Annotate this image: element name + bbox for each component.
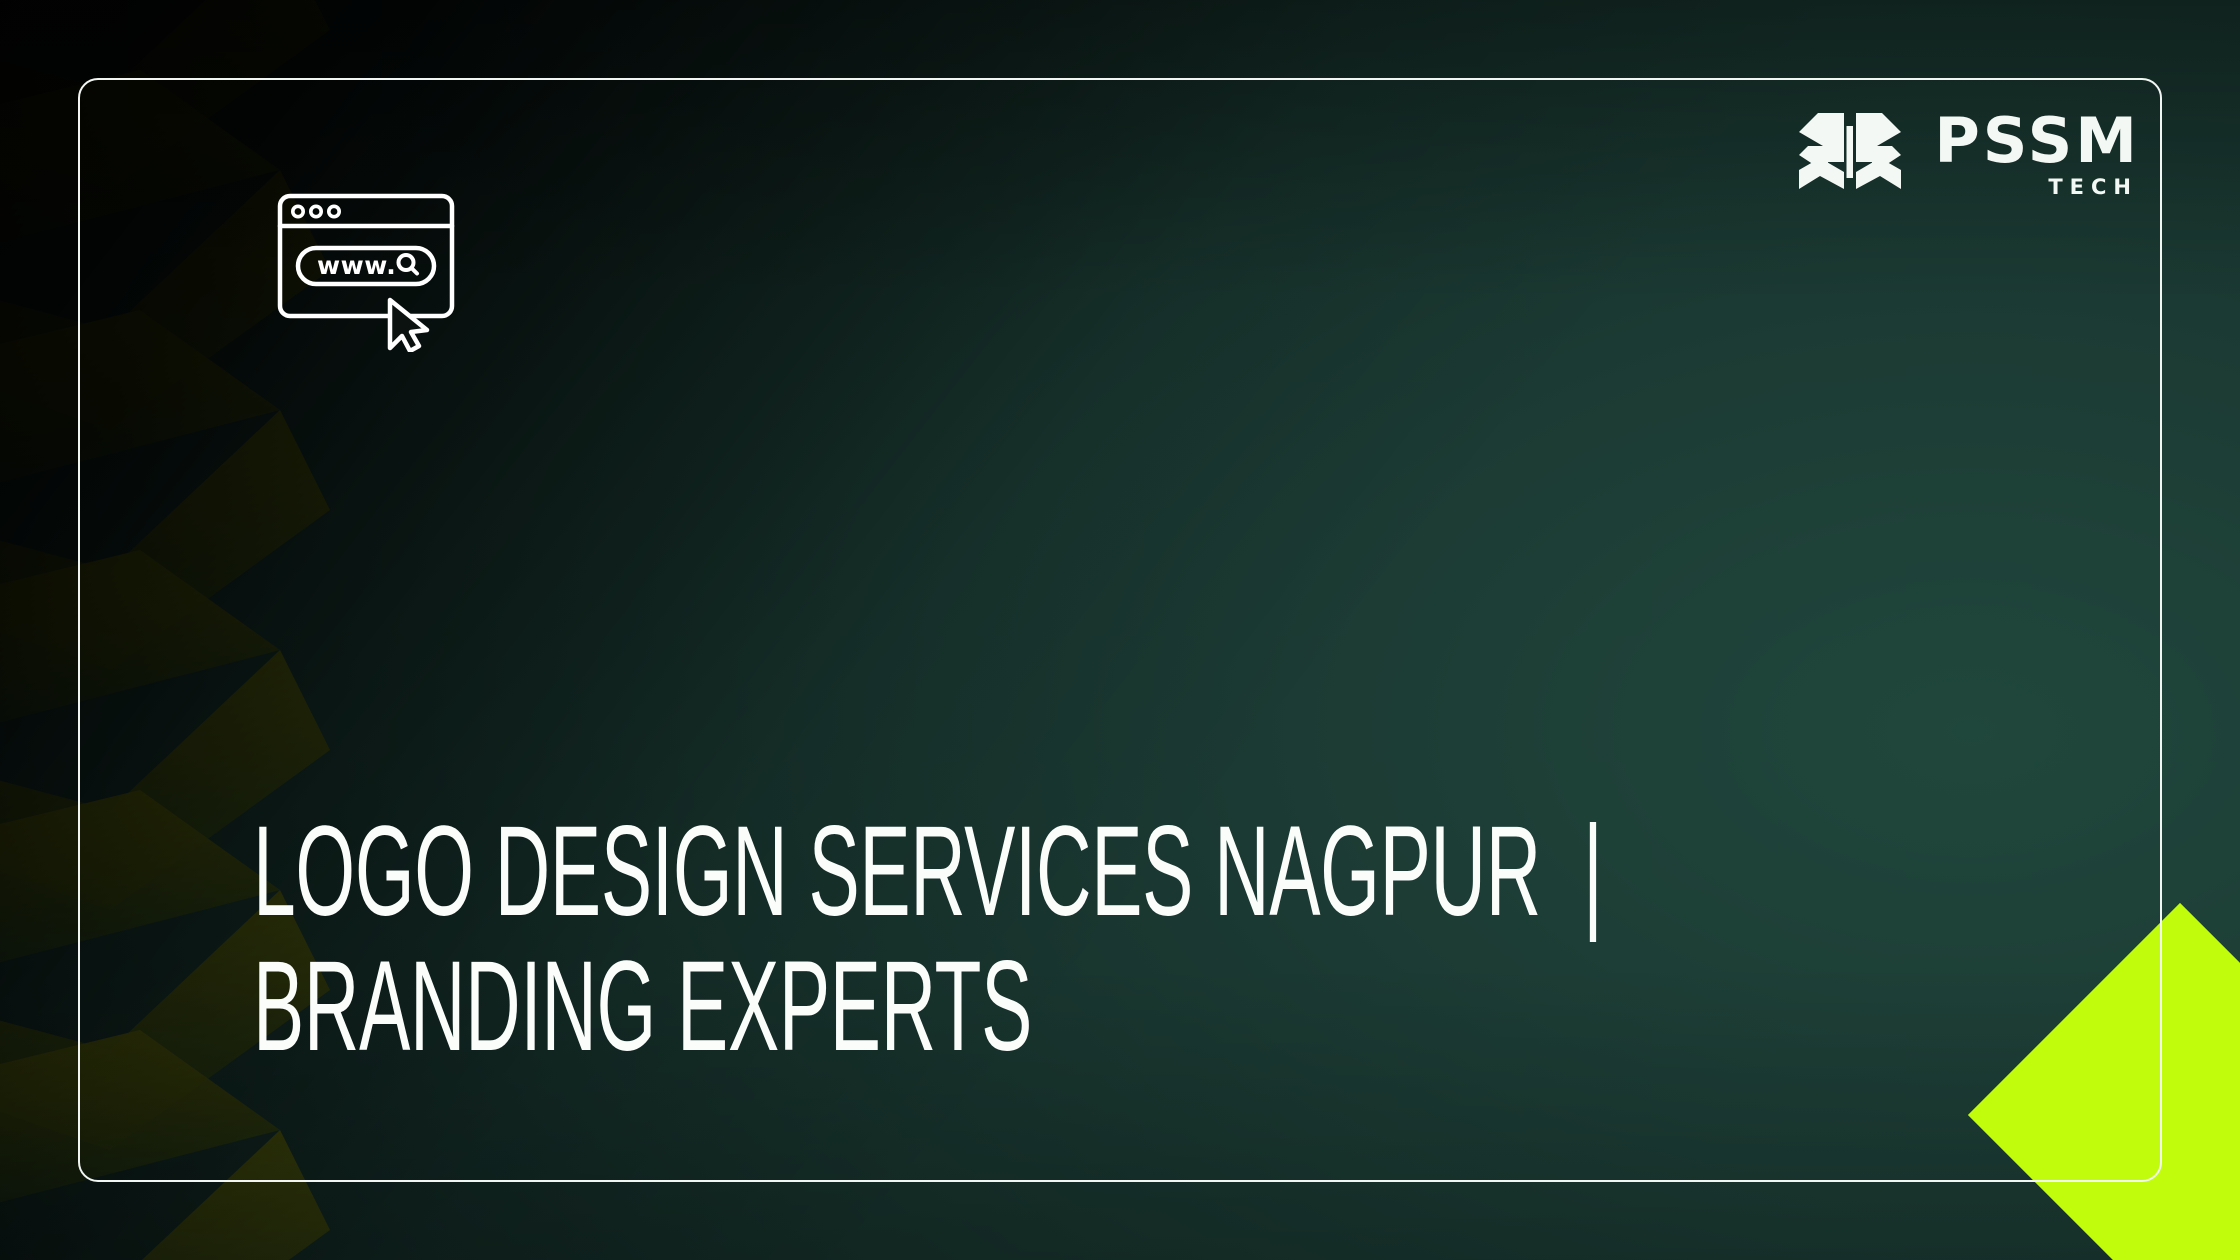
brand-logo[interactable]: PSSM TECH	[1798, 112, 2140, 198]
mouse-cursor-icon	[390, 300, 427, 351]
logo-wordmark-group: PSSM TECH	[1934, 112, 2140, 198]
browser-window-illustration: www.	[276, 192, 466, 357]
page-title: Logo Design Services Nagpur | Branding E…	[253, 804, 2023, 1074]
browser-address-text: www.	[317, 251, 396, 280]
pssm-chevron-mark-icon	[1798, 112, 1902, 195]
magnifier-icon	[399, 255, 418, 274]
banner-canvas: PSSM TECH www. Logo	[0, 0, 2240, 1260]
browser-traffic-dots	[293, 206, 339, 216]
logo-sub-wordmark: TECH	[2048, 177, 2138, 198]
logo-wordmark: PSSM	[1934, 112, 2140, 169]
